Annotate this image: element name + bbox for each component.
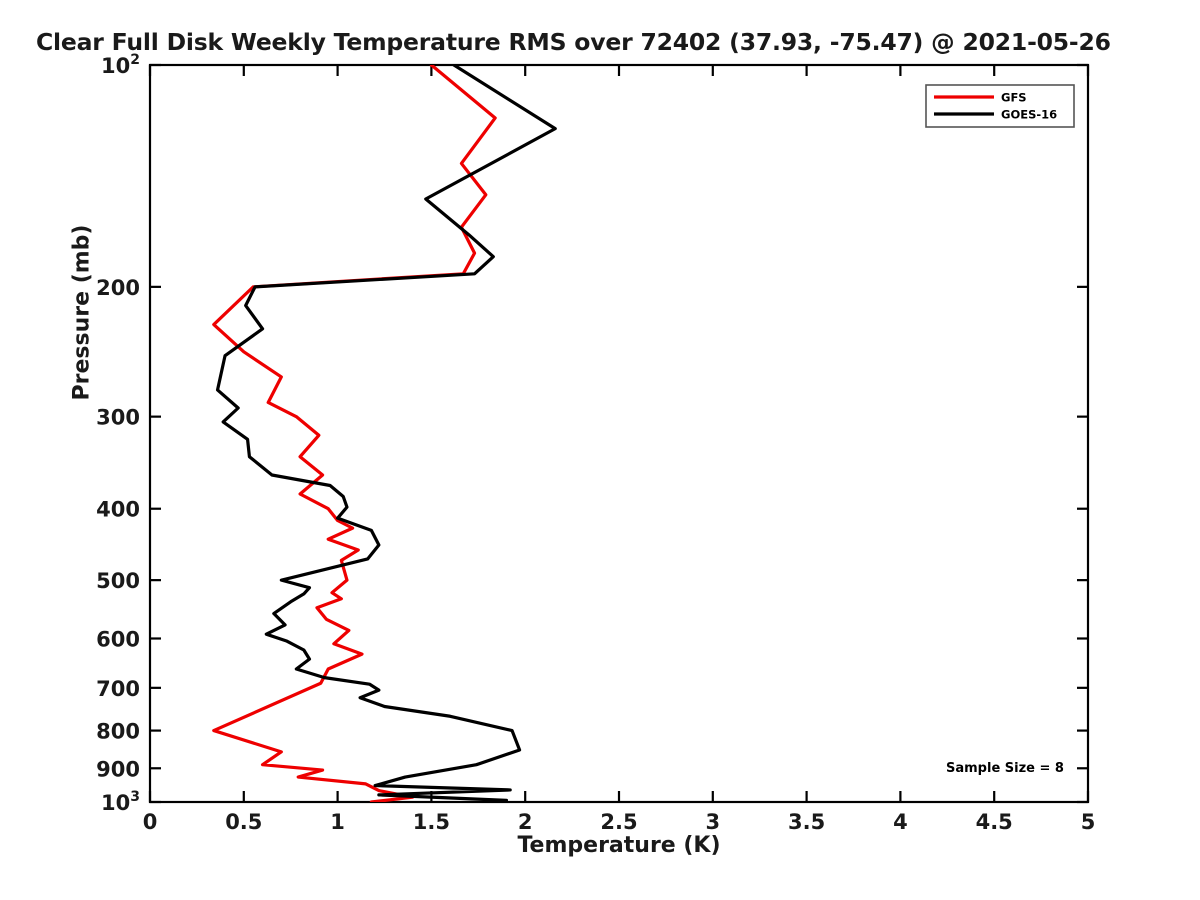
chart-legend: GFSGOES-16 (926, 85, 1074, 127)
x-tick-label: 0 (143, 810, 158, 834)
plot-frame (150, 65, 1088, 802)
y-tick-label: 500 (96, 569, 140, 593)
x-axis-ticks: 00.511.522.533.544.55 (143, 65, 1096, 834)
x-tick-label: 2.5 (600, 810, 637, 834)
y-tick-label: 300 (96, 406, 140, 430)
y-tick-label: 900 (96, 757, 140, 781)
series-line-gfs (214, 65, 495, 802)
legend-label: GOES-16 (1001, 108, 1057, 122)
x-tick-label: 5 (1081, 810, 1096, 834)
data-series-group (214, 65, 555, 802)
y-tick-label: 600 (96, 627, 140, 651)
sample-size-annotation: Sample Size = 8 (946, 761, 1064, 776)
y-tick-label: 102 (101, 52, 140, 78)
x-tick-label: 3.5 (788, 810, 825, 834)
y-tick-label: 103 (101, 789, 140, 815)
x-tick-label: 3 (705, 810, 720, 834)
chart-figure: Clear Full Disk Weekly Temperature RMS o… (0, 0, 1200, 900)
x-tick-label: 1 (330, 810, 345, 834)
chart-plot-area: 102200300400500600700800900103 00.511.52… (0, 0, 1200, 900)
x-tick-label: 0.5 (225, 810, 262, 834)
y-tick-label: 200 (96, 276, 140, 300)
y-axis-ticks: 102200300400500600700800900103 (96, 52, 1088, 815)
x-tick-label: 4.5 (976, 810, 1013, 834)
legend-label: GFS (1001, 91, 1027, 105)
x-tick-label: 4 (893, 810, 908, 834)
series-line-goes-16 (218, 65, 556, 800)
x-tick-label: 2 (518, 810, 533, 834)
y-tick-label: 700 (96, 677, 140, 701)
y-tick-label: 400 (96, 498, 140, 522)
y-tick-label: 800 (96, 720, 140, 744)
x-tick-label: 1.5 (413, 810, 450, 834)
